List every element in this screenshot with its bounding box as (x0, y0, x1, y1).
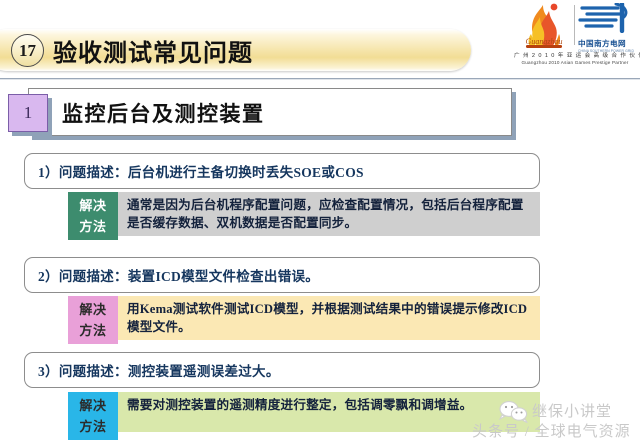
solution-badge-line1: 解决 (68, 299, 118, 320)
grid-name-cn: 中国南方电网 (578, 38, 636, 49)
question-text: 2）问题描述：装置ICD模型文件检查出错误。 (38, 265, 319, 285)
section-number: 1 (8, 94, 48, 132)
brand-divider (574, 5, 575, 45)
brand-logos-row: Guangzhou 中国南方电网 CHINA SOUTHERN POWER GR… (514, 1, 636, 49)
section-title: 监控后台及测控装置 (62, 98, 265, 128)
solution-text: 需要对测控装置的遥测精度进行整定，包括调零飘和调增益。 (118, 392, 540, 432)
solution-badge: 解决 方法 (68, 296, 118, 344)
solution-text: 通常是因为后台机程序配置问题，应检查配置情况，包括后台程序配置是否缓存数据、双机… (118, 192, 540, 236)
solution-badge-line1: 解决 (68, 395, 118, 416)
solution-badge: 解决 方法 (68, 392, 118, 440)
brand-lockup: Guangzhou 中国南方电网 CHINA SOUTHERN POWER GR… (514, 0, 636, 74)
sponsor-tagline-cn: 广 州 2 0 1 0 年 亚 运 会 高 级 合 作 伙 伴 (514, 51, 636, 59)
slide-number: 17 (11, 34, 44, 67)
solution-text: 用Kema测试软件测试ICD模型，并根据测试结果中的错误提示修改ICD模型文件。 (118, 296, 540, 340)
china-southern-power-grid-icon: 中国南方电网 CHINA SOUTHERN POWER GRID (578, 3, 636, 47)
slide-canvas: 17 验收测试常见问题 Guangzhou (0, 0, 640, 443)
question-text: 1）问题描述：后台机进行主备切换时丢失SOE或COS (38, 161, 364, 181)
slide-header: 17 验收测试常见问题 Guangzhou (0, 0, 640, 82)
header-divider (0, 78, 640, 80)
solution-badge-line1: 解决 (68, 195, 118, 216)
page-title: 验收测试常见问题 (53, 33, 253, 68)
solution-badge: 解决 方法 (68, 192, 118, 240)
watermark-line-1: 继保小讲堂 (532, 400, 612, 421)
solution-badge-line2: 方法 (68, 216, 118, 237)
question-text: 3）问题描述：测控装置遥测误差过大。 (38, 360, 280, 380)
guangzhou-wordmark: Guangzhou (516, 37, 572, 46)
solution-badge-line2: 方法 (68, 416, 118, 437)
sponsor-tagline-en: Guangzhou 2010 Asian Games Prestige Part… (514, 60, 636, 65)
solution-badge-line2: 方法 (68, 320, 118, 341)
